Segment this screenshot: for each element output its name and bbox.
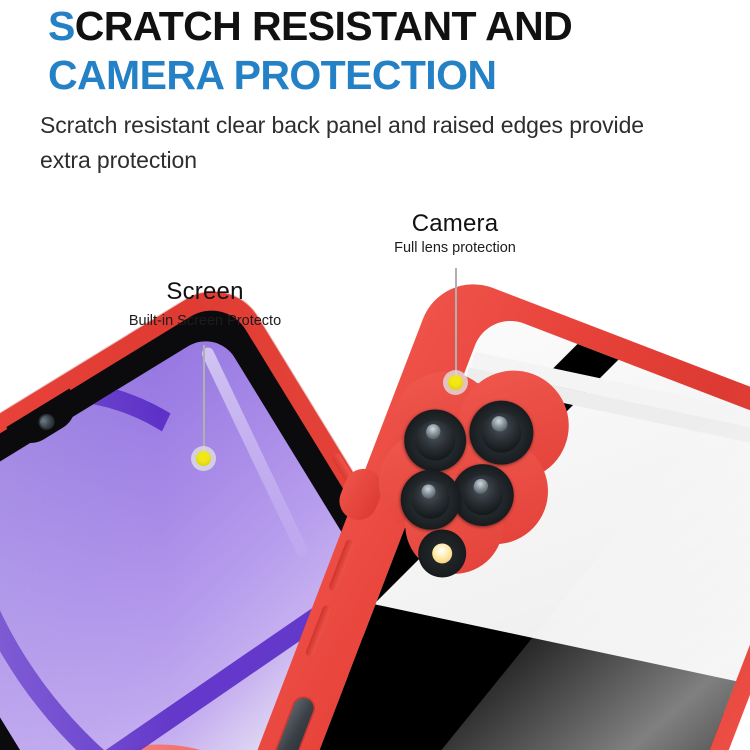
callout-camera-marker-icon xyxy=(443,370,468,395)
headline-line-1-rest: CRATCH RESISTANT AND xyxy=(75,3,572,49)
product-feature-image: SCRATCH RESISTANT AND CAMERA PROTECTION … xyxy=(0,0,750,750)
callout-screen-marker-icon xyxy=(191,446,216,471)
body-description: Scratch resistant clear back panel and r… xyxy=(40,108,660,178)
callout-camera-subtitle: Full lens protection xyxy=(340,240,570,256)
callout-camera-title: Camera xyxy=(355,210,555,238)
callout-screen-leader-line xyxy=(203,345,205,453)
callout-camera-leader-line xyxy=(455,268,457,378)
callout-screen-subtitle: Built-in Screen Protecto xyxy=(65,313,345,329)
headline-line-2: CAMERA PROTECTION xyxy=(48,52,708,99)
callout-screen-title: Screen xyxy=(105,278,305,306)
headline-accent-letter: S xyxy=(48,3,75,49)
headline-line-1: SCRATCH RESISTANT AND xyxy=(48,3,708,50)
